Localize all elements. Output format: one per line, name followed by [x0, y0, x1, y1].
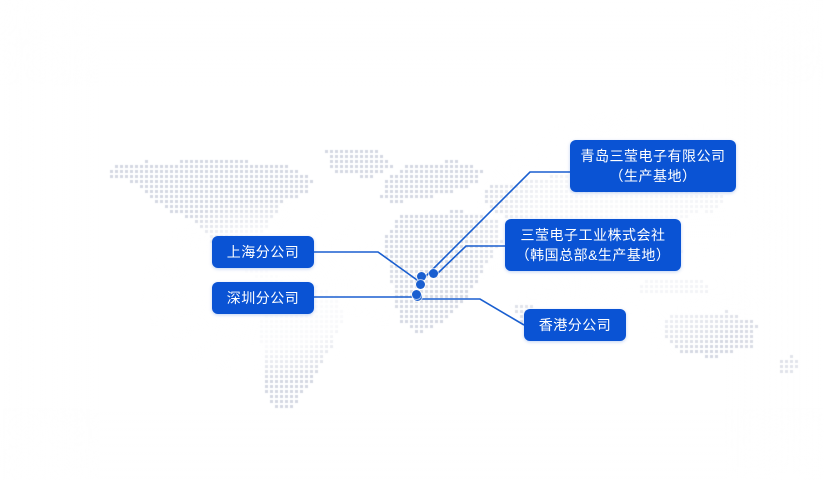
label-shenzhen[interactable]: 深圳分公司: [212, 282, 314, 314]
label-korea-line1: 三莹电子工业株式会社: [521, 225, 666, 245]
label-qingdao-line2: （生产基地）: [610, 166, 697, 186]
label-shanghai[interactable]: 上海分公司: [212, 236, 314, 268]
label-korea-line2: （韩国总部&生产基地）: [516, 245, 671, 265]
label-qingdao[interactable]: 青岛三莹电子有限公司 （生产基地）: [570, 140, 736, 192]
label-korea[interactable]: 三莹电子工业株式会社 （韩国总部&生产基地）: [505, 219, 681, 271]
label-qingdao-line1: 青岛三莹电子有限公司: [581, 146, 726, 166]
label-shenzhen-line1: 深圳分公司: [227, 288, 300, 308]
label-hongkong[interactable]: 香港分公司: [524, 309, 626, 341]
map-marker-shanghai[interactable]: [416, 280, 425, 289]
map-marker-korea[interactable]: [429, 269, 438, 278]
world-map: [0, 0, 824, 480]
label-hongkong-line1: 香港分公司: [539, 315, 612, 335]
map-marker-shenzhen[interactable]: [412, 290, 421, 299]
world-map-dots: [0, 0, 824, 480]
label-shanghai-line1: 上海分公司: [227, 242, 300, 262]
world-map-infographic: 青岛三莹电子有限公司 （生产基地） 三莹电子工业株式会社 （韩国总部&生产基地）…: [0, 0, 824, 480]
